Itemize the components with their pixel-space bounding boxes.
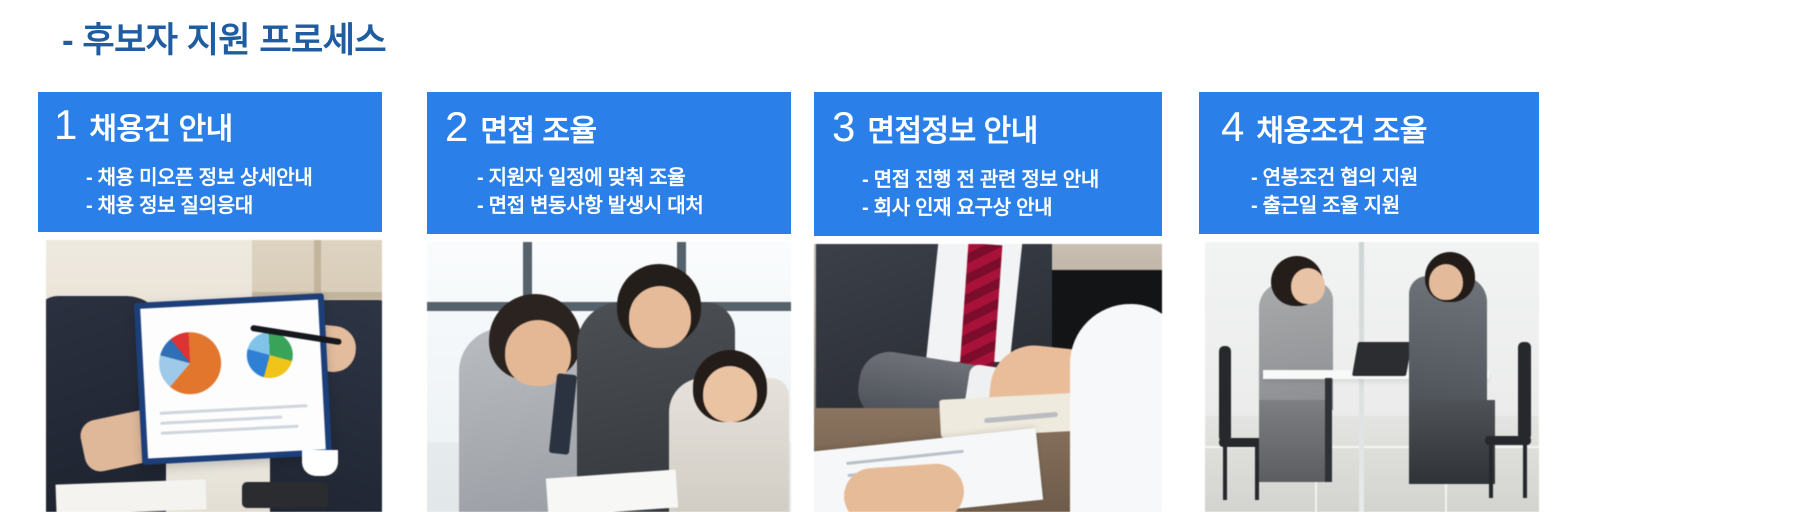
photo-4-laptop [1352,342,1412,376]
photo-2-scene [427,242,791,512]
step-3-name: 면접정보 안내 [867,117,1037,147]
photo-4-woman-face [1291,268,1325,304]
step-3-bullets: - 면접 진행 전 관련 정보 안내 - 회사 인재 요구상 안내 [862,166,1099,223]
photo-4-chair-left [1219,346,1263,496]
photo-1-coffee-cup [302,450,338,476]
photo-3-foreground-person [1070,304,1162,512]
step-2-title: 2 면접 조율 [445,106,597,148]
photo-4-scene [1205,242,1539,512]
step-2-photo [427,242,791,512]
process-step-3[interactable]: 3 면접정보 안내 - 면접 진행 전 관련 정보 안내 - 회사 인재 요구상… [814,92,1162,236]
photo-1-document [56,479,207,512]
step-1-bullet-1: - 채용 미오픈 정보 상세안내 [86,164,313,192]
photo-1-pie-chart-small [246,331,294,379]
step-2-number: 2 [445,106,468,148]
step-1-header: 1 채용건 안내 - 채용 미오픈 정보 상세안내 - 채용 정보 질의응대 [38,92,382,232]
step-4-photo [1205,242,1539,512]
step-1-photo [46,240,382,512]
page-title: - 후보자 지원 프로세스 [62,12,386,63]
step-1-title: 1 채용건 안내 [54,104,233,146]
step-2-name: 면접 조율 [480,117,596,147]
step-3-photo [814,244,1162,512]
photo-1-scene [46,240,382,512]
photo-1-phone [242,482,328,508]
photo-4-chair-right [1485,342,1531,494]
photo-1-pie-chart-large [158,331,223,396]
photo-4-man-legs [1409,400,1495,484]
step-2-bullet-2: - 면접 변동사항 발생시 대처 [477,192,704,220]
step-1-name: 채용건 안내 [89,115,232,145]
step-2-header: 2 면접 조율 - 지원자 일정에 맞춰 조율 - 면접 변동사항 발생시 대처 [427,92,791,234]
step-3-number: 3 [832,106,855,148]
step-3-title: 3 면접정보 안내 [832,106,1038,148]
process-step-2[interactable]: 2 면접 조율 - 지원자 일정에 맞춰 조율 - 면접 변동사항 발생시 대처 [427,92,791,234]
step-3-bullet-2: - 회사 인재 요구상 안내 [862,194,1099,222]
step-2-bullet-1: - 지원자 일정에 맞춰 조율 [477,164,704,192]
photo-4-man-face [1429,264,1463,300]
step-2-bullets: - 지원자 일정에 맞춰 조율 - 면접 변동사항 발생시 대처 [477,164,704,221]
photo-2-face-woman [703,366,757,422]
step-3-header: 3 면접정보 안내 - 면접 진행 전 관련 정보 안내 - 회사 인재 요구상… [814,92,1162,236]
step-4-bullets: - 연봉조건 협의 지원 - 출근일 조율 지원 [1251,164,1418,221]
step-1-bullet-2: - 채용 정보 질의응대 [86,192,313,220]
step-3-bullet-1: - 면접 진행 전 관련 정보 안내 [862,166,1099,194]
step-1-number: 1 [54,104,77,146]
process-step-1[interactable]: 1 채용건 안내 - 채용 미오픈 정보 상세안내 - 채용 정보 질의응대 [38,92,382,232]
step-4-header: 4 채용조건 조율 - 연봉조건 협의 지원 - 출근일 조율 지원 [1199,92,1539,234]
step-1-bullets: - 채용 미오픈 정보 상세안내 - 채용 정보 질의응대 [86,164,313,221]
photo-3-scene [814,244,1162,512]
step-4-bullet-2: - 출근일 조율 지원 [1251,192,1418,220]
step-4-title: 4 채용조건 조율 [1221,106,1427,148]
slide-root: - 후보자 지원 프로세스 1 채용건 안내 - 채용 미오픈 정보 상세안내 … [0,0,1800,512]
photo-3-hand-holding-clipboard [842,462,966,512]
photo-1-clipboard [134,293,332,465]
photo-2-face-standing [629,286,691,348]
process-steps-row: 1 채용건 안내 - 채용 미오픈 정보 상세안내 - 채용 정보 질의응대 [0,92,1800,512]
process-step-4[interactable]: 4 채용조건 조율 - 연봉조건 협의 지원 - 출근일 조율 지원 [1199,92,1539,234]
step-4-name: 채용조건 조율 [1256,117,1426,147]
photo-4-woman-legs [1259,400,1329,482]
step-4-number: 4 [1221,106,1244,148]
step-4-bullet-1: - 연봉조건 협의 지원 [1251,164,1418,192]
